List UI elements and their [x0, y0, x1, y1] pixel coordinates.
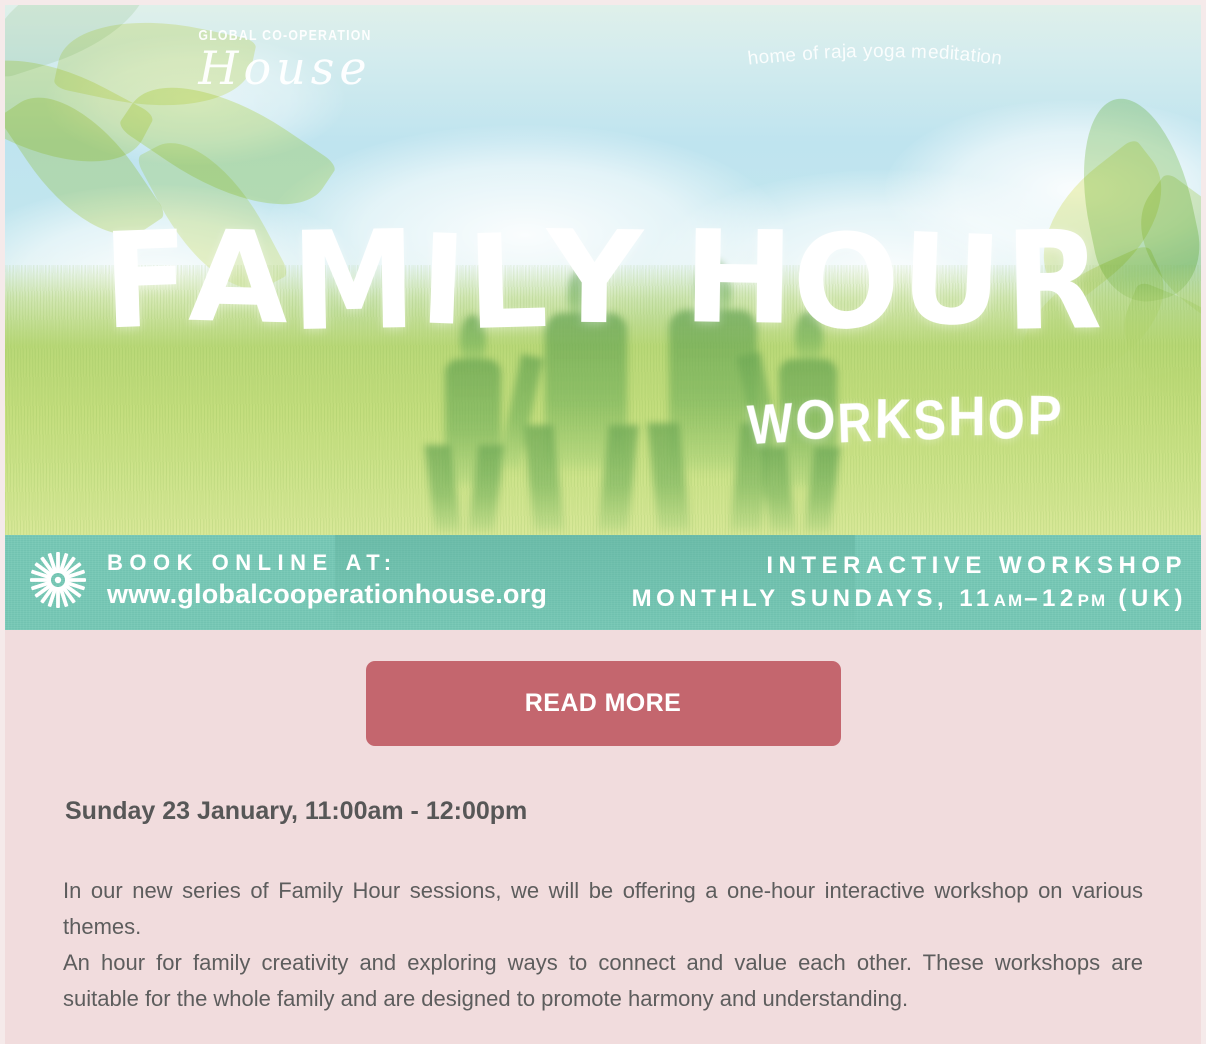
headline-letter: F	[101, 214, 191, 349]
schedule-pm: PM	[1078, 591, 1108, 610]
workshop-type-label: INTERACTIVE WORKSHOP	[632, 551, 1187, 581]
subword-letter: K	[874, 386, 913, 452]
subword-text: WORKSHOP	[746, 384, 1064, 454]
band-left-text: BOOK ONLINE AT: www.globalcooperationhou…	[107, 550, 547, 609]
subword-letter: O	[795, 387, 837, 452]
headline-letter: U	[899, 217, 1004, 345]
description-paragraph-2: An hour for family creativity and explor…	[63, 945, 1143, 1017]
hero-subword-workshop: WORKSHOP	[746, 383, 1064, 455]
subword-letter: W	[746, 389, 796, 457]
band-left-group: BOOK ONLINE AT: www.globalcooperationhou…	[27, 549, 547, 611]
headline-letter: I	[418, 218, 469, 344]
event-date-heading: Sunday 23 January, 11:00am - 12:00pm	[65, 797, 1201, 826]
headline-letter: R	[1004, 213, 1103, 351]
hero-banner-image: GLOBAL CO-OPERATION House home of raja y…	[5, 5, 1201, 630]
cta-wrapper: READ MORE	[5, 630, 1201, 746]
email-frame: GLOBAL CO-OPERATION House home of raja y…	[0, 0, 1206, 1044]
subword-letter: O	[987, 386, 1028, 453]
headline-letter: M	[290, 213, 417, 351]
headline-letter: L	[466, 216, 550, 348]
schedule-suffix: (UK)	[1107, 585, 1187, 612]
logo-top-text: GLOBAL CO-OPERATION	[162, 27, 408, 44]
logo-script-text: House	[135, 42, 435, 95]
read-more-button[interactable]: READ MORE	[366, 661, 841, 746]
headline-letter: O	[791, 216, 902, 349]
headline-letter: Y	[545, 214, 643, 343]
book-online-label: BOOK ONLINE AT:	[107, 550, 547, 576]
schedule-label: MONTHLY SUNDAYS, 11AM–12PM (UK)	[632, 584, 1187, 614]
band-right-group: INTERACTIVE WORKSHOP MONTHLY SUNDAYS, 11…	[632, 551, 1187, 614]
schedule-am: AM	[994, 591, 1024, 610]
email-body: GLOBAL CO-OPERATION House home of raja y…	[5, 5, 1201, 1044]
content-section: READ MORE Sunday 23 January, 11:00am - 1…	[5, 630, 1201, 1016]
subword-letter: R	[837, 389, 875, 455]
sunburst-icon	[27, 549, 89, 611]
brand-tagline: home of raja yoga meditation	[705, 41, 1045, 63]
schedule-dash: –12	[1024, 585, 1078, 612]
booking-info-band: BOOK ONLINE AT: www.globalcooperationhou…	[5, 535, 1201, 630]
subword-letter: P	[1027, 382, 1063, 447]
subword-letter: S	[912, 386, 949, 453]
website-url[interactable]: www.globalcooperationhouse.org	[107, 579, 547, 610]
brand-logo: GLOBAL CO-OPERATION House	[135, 27, 435, 95]
tagline-text: home of raja yoga meditation	[747, 41, 1003, 63]
headline-letter: A	[188, 214, 291, 343]
subword-letter: H	[948, 383, 987, 448]
headline-hour: HOUR	[685, 311, 1104, 328]
hero-headline: FAMILYHOUR	[5, 210, 1201, 346]
schedule-prefix: MONTHLY SUNDAYS, 11	[632, 585, 994, 612]
description-paragraph-1: In our new series of Family Hour session…	[63, 873, 1143, 945]
headline-family: FAMILY	[102, 311, 641, 328]
headline-letter: H	[682, 214, 795, 344]
